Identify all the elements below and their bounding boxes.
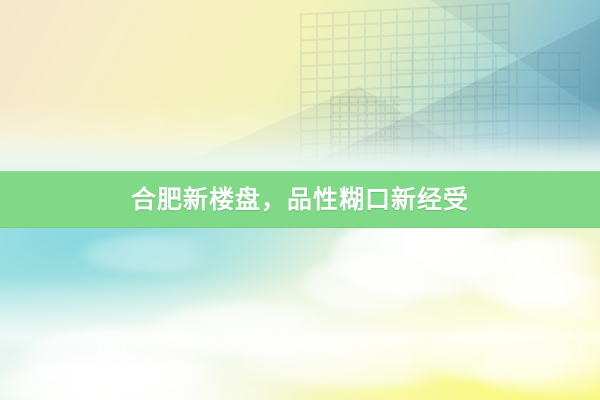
banner-title: 合肥新楼盘，品性糊口新经受 bbox=[131, 187, 469, 212]
sky-bright-floor bbox=[0, 330, 380, 400]
banner-image: 合肥新楼盘，品性糊口新经受 bbox=[0, 0, 600, 400]
cloud-icon bbox=[80, 236, 230, 272]
title-band: 合肥新楼盘，品性糊口新经受 bbox=[0, 171, 600, 228]
top-gradient-section bbox=[0, 0, 600, 172]
top-bottom-haze bbox=[0, 138, 600, 172]
sky-section bbox=[0, 228, 600, 400]
